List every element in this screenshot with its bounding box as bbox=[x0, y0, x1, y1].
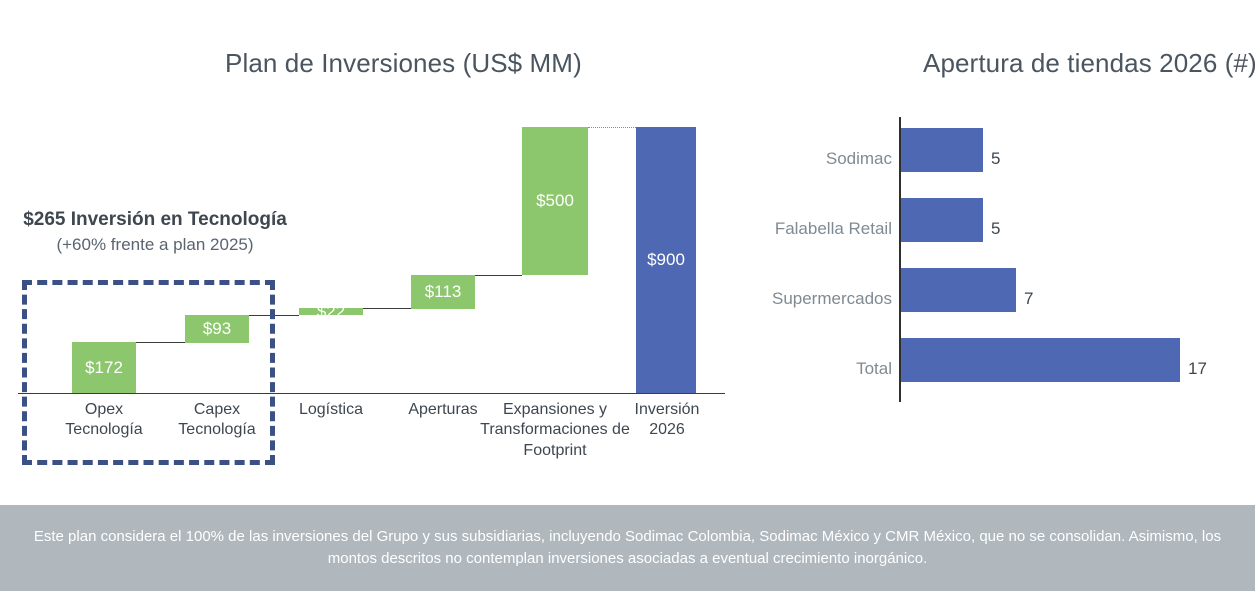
waterfall-connector-3 bbox=[475, 275, 522, 276]
waterfall-bar-value-3: $113 bbox=[425, 282, 462, 302]
waterfall-bar-expansiones-footprint[interactable]: $500 bbox=[522, 127, 588, 275]
barchart-value-3: 17 bbox=[1188, 360, 1207, 377]
waterfall-xlabel-expansiones: Expansiones y Transformaciones de Footpr… bbox=[479, 400, 631, 461]
tech-highlight-box bbox=[22, 280, 275, 465]
waterfall-xlabel-logistica-line1: Logística bbox=[279, 400, 383, 420]
barchart-value-0: 5 bbox=[991, 150, 1000, 167]
waterfall-bar-value-2: $22 bbox=[317, 302, 345, 322]
waterfall-bar-logistica[interactable]: $22 bbox=[299, 308, 363, 315]
waterfall-xlabel-logistica: Logística bbox=[279, 400, 383, 420]
barchart-bar-3[interactable] bbox=[901, 338, 1180, 382]
barchart-category-2: Supermercados bbox=[772, 290, 892, 307]
slide-canvas: Plan de Inversiones (US$ MM) Apertura de… bbox=[0, 0, 1255, 591]
waterfall-xlabel-expansiones-line2: Transformaciones de Footprint bbox=[479, 420, 631, 461]
waterfall-connector-2 bbox=[363, 308, 411, 309]
barchart-category-1: Falabella Retail bbox=[775, 220, 892, 237]
waterfall-xlabel-expansiones-line1: Expansiones y bbox=[479, 400, 631, 420]
store-openings-chart: Sodimac 5 Falabella Retail 5 Supermercad… bbox=[740, 100, 1255, 430]
waterfall-bar-aperturas[interactable]: $113 bbox=[411, 275, 475, 309]
waterfall-bar-value-5: $900 bbox=[647, 250, 685, 270]
barchart-value-2: 7 bbox=[1024, 290, 1033, 307]
left-chart-title: Plan de Inversiones (US$ MM) bbox=[225, 48, 582, 79]
waterfall-bar-inversion-2026[interactable]: $900 bbox=[636, 127, 696, 393]
barchart-category-3: Total bbox=[856, 360, 892, 377]
waterfall-bar-value-4: $500 bbox=[536, 191, 574, 211]
barchart-bar-0[interactable] bbox=[901, 128, 983, 172]
barchart-value-1: 5 bbox=[991, 220, 1000, 237]
barchart-bar-1[interactable] bbox=[901, 198, 983, 242]
waterfall-xlabel-inversion: Inversión 2026 bbox=[622, 400, 712, 441]
waterfall-connector-4 bbox=[588, 127, 636, 128]
footnote-band: Este plan considera el 100% de las inver… bbox=[0, 505, 1255, 591]
right-chart-title: Apertura de tiendas 2026 (#) bbox=[923, 48, 1255, 79]
waterfall-xlabel-inversion-line2: 2026 bbox=[622, 420, 712, 440]
barchart-bar-2[interactable] bbox=[901, 268, 1016, 312]
waterfall-xlabel-inversion-line1: Inversión bbox=[622, 400, 712, 420]
footnote-text: Este plan considera el 100% de las inver… bbox=[20, 526, 1235, 571]
barchart-category-0: Sodimac bbox=[826, 150, 892, 167]
